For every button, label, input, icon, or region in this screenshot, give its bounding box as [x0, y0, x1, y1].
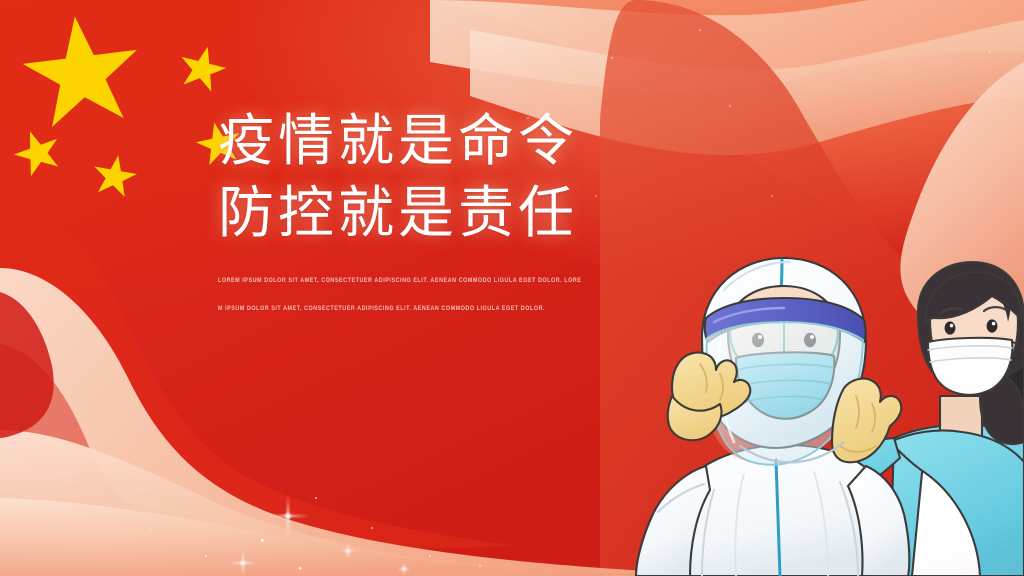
poster-canvas: 疫情就是命令 防控就是责任 LOREM IPSUM DOLOR SIT AMET… — [0, 0, 1024, 576]
vignette-overlay — [0, 0, 1024, 576]
